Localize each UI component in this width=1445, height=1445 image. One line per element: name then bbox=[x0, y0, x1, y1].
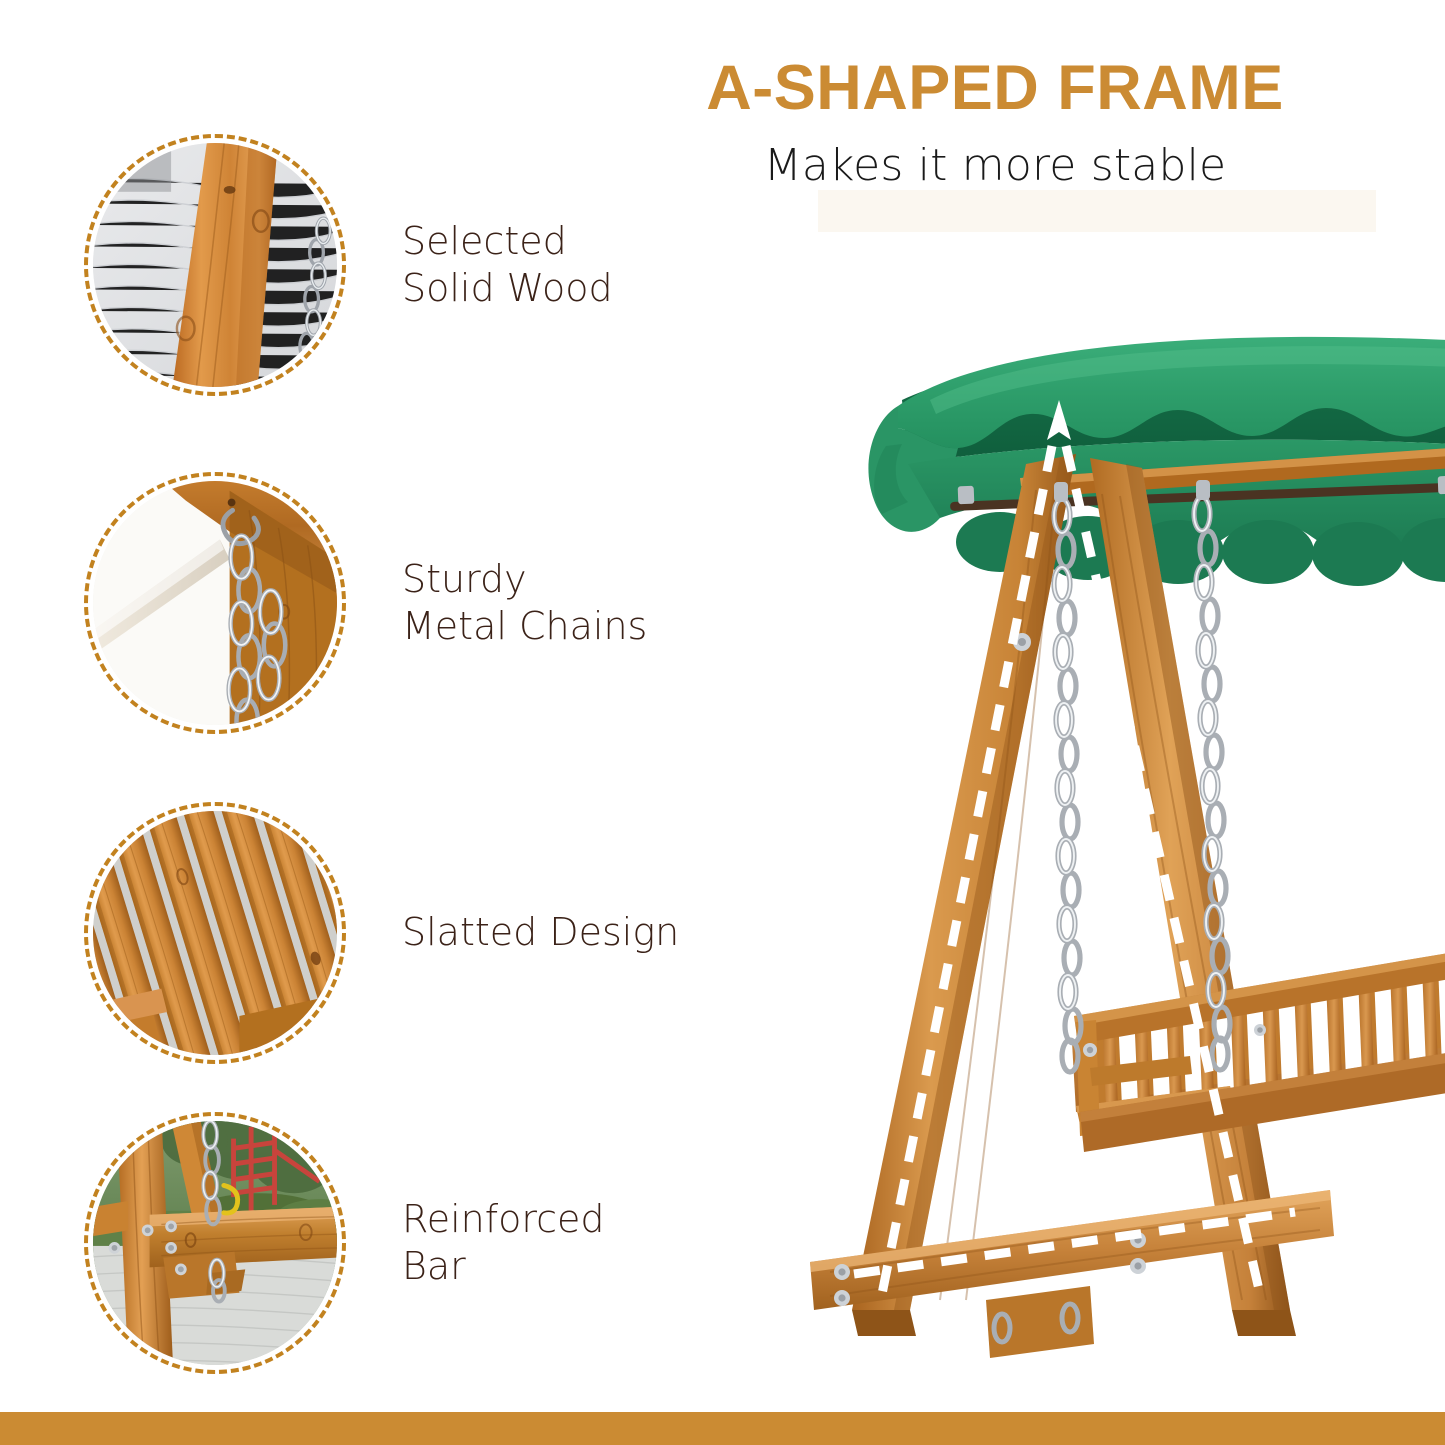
feature-label: Reinforced Bar bbox=[402, 1196, 605, 1290]
feature-row-sturdy-metal-chains: Sturdy Metal Chains bbox=[84, 468, 744, 738]
infographic-page: A-SHAPED FRAME Makes it more stable bbox=[0, 0, 1445, 1445]
feature-row-slatted-design: Slatted Design bbox=[84, 798, 744, 1068]
product-photo-garden-swing bbox=[790, 250, 1445, 1380]
right-foot bbox=[1232, 1310, 1296, 1336]
feature-photo-bubble bbox=[84, 1112, 346, 1374]
feature-photo-bubble bbox=[84, 472, 346, 734]
subtitle-background-panel bbox=[818, 190, 1376, 232]
bottom-accent-bar bbox=[0, 1412, 1445, 1445]
left-foot bbox=[852, 1310, 916, 1336]
reinforced-crossbar-photo bbox=[93, 1121, 337, 1365]
wood-post-with-chain-photo bbox=[93, 143, 337, 387]
feature-label: Sturdy Metal Chains bbox=[402, 556, 647, 650]
feature-photo-bubble bbox=[84, 134, 346, 396]
feature-row-reinforced-bar: Reinforced Bar bbox=[84, 1108, 744, 1378]
feature-label: Slatted Design bbox=[402, 909, 679, 956]
wood-slats-photo bbox=[93, 811, 337, 1055]
feature-row-selected-solid-wood: Selected Solid Wood bbox=[84, 130, 744, 400]
swing-chain-left bbox=[1054, 499, 1081, 1072]
feature-photo-bubble bbox=[84, 802, 346, 1064]
metal-chain-hook-photo bbox=[93, 481, 337, 725]
feature-label: Selected Solid Wood bbox=[402, 218, 613, 312]
page-title: A-SHAPED FRAME bbox=[600, 52, 1390, 124]
